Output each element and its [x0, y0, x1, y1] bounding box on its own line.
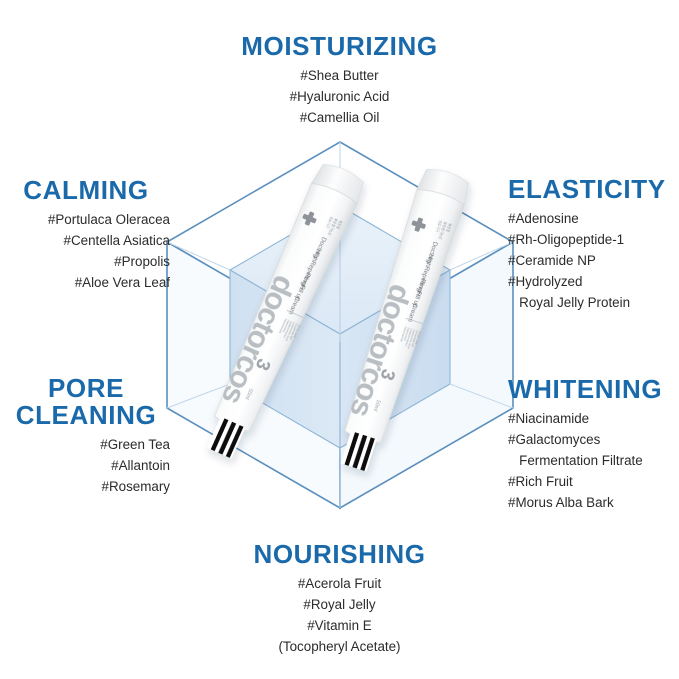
ingredient-item: Fermentation Filtrate: [508, 451, 679, 472]
benefit-block-moisturizing: MOISTURIZING #Shea Butter #Hyaluronic Ac…: [172, 32, 507, 129]
benefit-title-calming: CALMING: [2, 176, 170, 204]
ingredient-item: #Adenosine: [508, 209, 678, 230]
ingredient-list-calming: #Portulaca Oleracea #Centella Asiatica #…: [2, 210, 170, 294]
ingredient-item: #Morus Alba Bark: [508, 493, 679, 514]
ingredient-item: #Hydrolyzed: [508, 272, 678, 293]
ingredient-item: #Rosemary: [2, 477, 170, 498]
ingredient-item: #Royal Jelly: [172, 595, 507, 616]
ingredient-list-moisturizing: #Shea Butter #Hyaluronic Acid #Camellia …: [172, 66, 507, 129]
ingredient-list-nourishing: #Acerola Fruit #Royal Jelly #Vitamin E (…: [172, 574, 507, 658]
ingredient-item: #Camellia Oil: [172, 108, 507, 129]
ingredient-item: #Acerola Fruit: [172, 574, 507, 595]
ingredient-item: #Ceramide NP: [508, 251, 678, 272]
ingredient-item: #Allantoin: [2, 456, 170, 477]
ingredient-item: #Aloe Vera Leaf: [2, 273, 170, 294]
benefit-block-pore-cleaning: PORE CLEANING #Green Tea #Allantoin #Ros…: [2, 375, 170, 498]
ingredient-item: #Hyaluronic Acid: [172, 87, 507, 108]
benefit-title-pore-cleaning: PORE CLEANING: [2, 375, 170, 429]
infographic-canvas: doctorcos 의료기기 화장품기능성 화장품 Doctor's High …: [0, 0, 679, 679]
ingredient-item: (Tocopheryl Acetate): [172, 637, 507, 658]
benefit-block-whitening: WHITENING #Niacinamide #Galactomyces Fer…: [508, 375, 679, 514]
ingredient-item: #Propolis: [2, 252, 170, 273]
ingredient-item: Royal Jelly Protein: [508, 293, 678, 314]
ingredient-item: #Portulaca Oleracea: [2, 210, 170, 231]
ingredient-list-elasticity: #Adenosine #Rh-Oligopeptide-1 #Ceramide …: [508, 209, 678, 314]
ingredient-item: #Rh-Oligopeptide-1: [508, 230, 678, 251]
benefit-block-calming: CALMING #Portulaca Oleracea #Centella As…: [2, 176, 170, 294]
ingredient-item: #Green Tea: [2, 435, 170, 456]
ingredient-item: #Galactomyces: [508, 430, 679, 451]
benefit-block-nourishing: NOURISHING #Acerola Fruit #Royal Jelly #…: [172, 540, 507, 658]
ingredient-item: #Shea Butter: [172, 66, 507, 87]
ingredient-item: #Vitamin E: [172, 616, 507, 637]
benefit-block-elasticity: ELASTICITY #Adenosine #Rh-Oligopeptide-1…: [508, 175, 678, 314]
ingredient-item: #Rich Fruit: [508, 472, 679, 493]
ingredient-item: #Centella Asiatica: [2, 231, 170, 252]
ingredient-list-pore-cleaning: #Green Tea #Allantoin #Rosemary: [2, 435, 170, 498]
isometric-cube-graphic: [145, 130, 535, 520]
ingredient-item: #Niacinamide: [508, 409, 679, 430]
benefit-title-nourishing: NOURISHING: [172, 540, 507, 568]
ingredient-list-whitening: #Niacinamide #Galactomyces Fermentation …: [508, 409, 679, 514]
benefit-title-elasticity: ELASTICITY: [508, 175, 678, 203]
benefit-title-whitening: WHITENING: [508, 375, 679, 403]
benefit-title-moisturizing: MOISTURIZING: [172, 32, 507, 60]
